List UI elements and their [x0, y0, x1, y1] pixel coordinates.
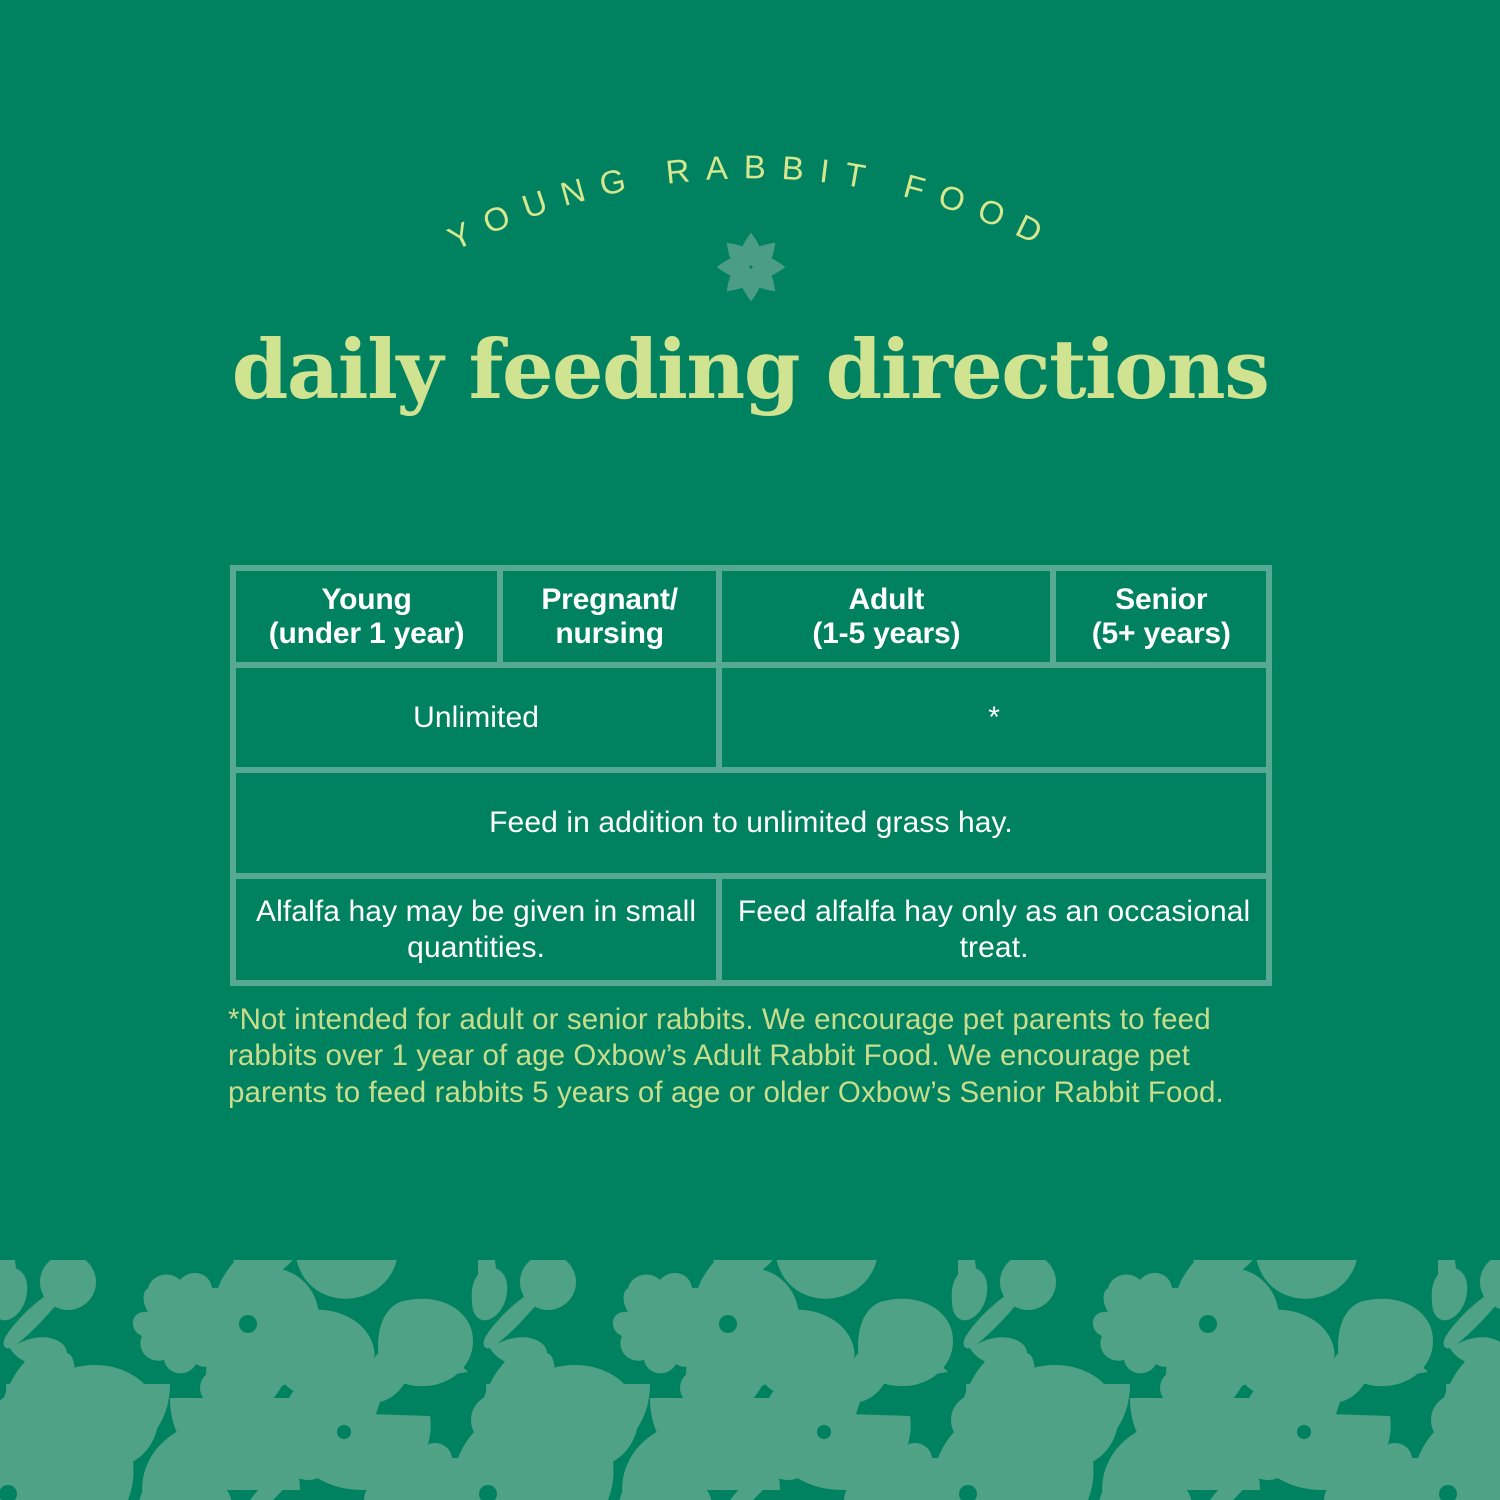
cell-alfalfa-adult: Feed alfalfa hay only as an occasional t… [719, 876, 1269, 983]
botanical-rabbit-pattern [0, 1260, 1500, 1500]
table-header-pregnant-nursing: Pregnant/ nursing [500, 568, 719, 665]
table-header-adult: Adult (1-5 years) [719, 568, 1053, 665]
header-title: Senior [1115, 583, 1207, 616]
rosette-flower-icon [712, 228, 790, 306]
feeding-directions-table: Young (under 1 year) Pregnant/ nursing A… [230, 565, 1272, 986]
table-row: Unlimited * [233, 665, 1269, 770]
header-subtitle: (1-5 years) [812, 617, 960, 650]
feeding-directions-page: YOUNG RABBIT FOOD [0, 0, 1500, 1500]
header-subtitle: (5+ years) [1092, 617, 1231, 650]
header-title: Young [321, 583, 411, 616]
table-row: Alfalfa hay may be given in small quanti… [233, 876, 1269, 983]
header-subtitle: nursing [555, 617, 664, 650]
header-subtitle: (under 1 year) [269, 617, 465, 650]
footnote-text: *Not intended for adult or senior rabbit… [228, 1002, 1278, 1111]
cell-alfalfa-young: Alfalfa hay may be given in small quanti… [233, 876, 719, 983]
cell-young-pregnant-amount: Unlimited [233, 665, 719, 770]
page-title: daily feeding directions [0, 330, 1500, 411]
cell-adult-senior-amount: * [719, 665, 1269, 770]
cell-grass-hay-note: Feed in addition to unlimited grass hay. [233, 770, 1269, 876]
table-header-row: Young (under 1 year) Pregnant/ nursing A… [233, 568, 1269, 665]
header-title: Pregnant/ [541, 583, 678, 616]
table-header-senior: Senior (5+ years) [1053, 568, 1269, 665]
table-row: Feed in addition to unlimited grass hay. [233, 770, 1269, 876]
header-title: Adult [849, 583, 925, 616]
table-header-young: Young (under 1 year) [233, 568, 500, 665]
